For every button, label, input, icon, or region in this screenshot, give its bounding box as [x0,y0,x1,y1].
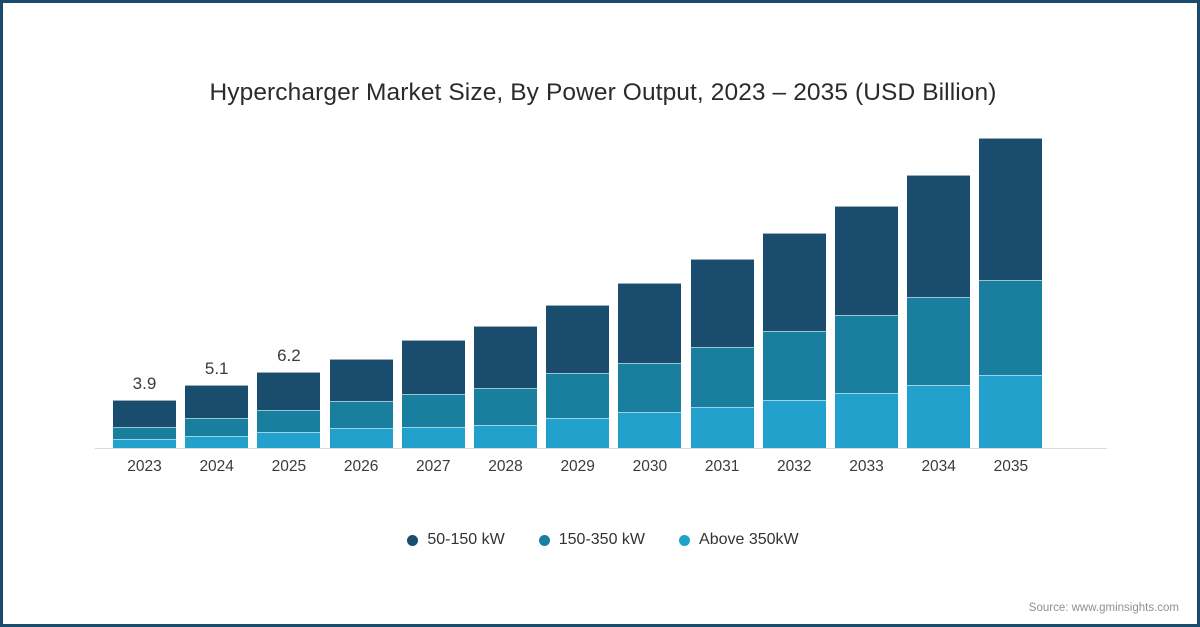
bar-segment[interactable] [113,439,176,448]
bar-segment[interactable] [907,297,970,386]
bar-segment[interactable] [257,410,320,432]
bar-segment[interactable] [835,315,898,392]
bar-segment[interactable] [185,436,248,448]
bar-value-label: 5.1 [175,359,258,379]
x-axis-tick-label: 2033 [825,458,908,476]
x-axis-tick-label: 2023 [103,458,186,476]
bar-segment[interactable] [618,283,681,363]
stacked-bar[interactable] [113,400,176,448]
stacked-bar[interactable] [474,326,537,448]
bar-segment[interactable] [330,428,393,448]
x-axis-tick-label: 2032 [753,458,836,476]
bar-segment[interactable] [691,347,754,407]
legend-item[interactable]: Above 350kW [679,531,799,549]
stacked-bar[interactable] [185,385,248,448]
bar-value-label: 3.9 [103,374,186,394]
bar-value-label: 6.2 [247,346,330,366]
bar-segment[interactable] [474,326,537,388]
legend-item[interactable]: 50-150 kW [407,531,504,549]
bar-segment[interactable] [113,400,176,427]
bar-segment[interactable] [546,373,609,419]
bar-segment[interactable] [835,206,898,315]
bar-group[interactable] [546,305,609,448]
chart-frame: Hypercharger Market Size, By Power Outpu… [0,0,1200,627]
bar-group[interactable] [330,359,393,448]
bar-segment[interactable] [474,388,537,425]
chart-legend: 50-150 kW150-350 kWAbove 350kW [3,531,1200,549]
bar-segment[interactable] [618,412,681,448]
x-axis-tick-label: 2024 [175,458,258,476]
x-axis-tick-label: 2028 [464,458,547,476]
bar-group[interactable]: 3.9 [113,400,176,448]
bar-segment[interactable] [979,138,1042,279]
bar-group[interactable] [763,233,826,448]
bar-segment[interactable] [907,385,970,448]
stacked-bar[interactable] [979,138,1042,448]
bar-segment[interactable] [691,407,754,448]
x-axis-tick-label: 2029 [536,458,619,476]
legend-label: 50-150 kW [427,531,504,549]
stacked-bar[interactable] [618,283,681,448]
bar-segment[interactable] [979,375,1042,448]
circle-dot-icon [679,535,690,546]
source-attribution: Source: www.gminsights.com [1029,602,1179,614]
bar-segment[interactable] [185,385,248,418]
bar-group[interactable] [402,340,465,448]
bar-segment[interactable] [546,305,609,373]
bar-segment[interactable] [402,394,465,427]
stacked-bar[interactable] [546,305,609,448]
bar-segment[interactable] [979,280,1042,376]
x-axis-tick-label: 2027 [392,458,475,476]
bar-group[interactable] [691,259,754,448]
stacked-bar[interactable] [691,259,754,448]
bar-group[interactable]: 6.2 [257,372,320,448]
x-axis-tick-label: 2030 [608,458,691,476]
bar-segment[interactable] [763,331,826,400]
stacked-bar[interactable] [330,359,393,448]
stacked-bar[interactable] [402,340,465,448]
bar-group[interactable] [835,206,898,448]
bar-segment[interactable] [402,340,465,394]
x-axis-tick-label: 2025 [247,458,330,476]
bar-segment[interactable] [257,372,320,410]
legend-label: 150-350 kW [559,531,645,549]
bar-segment[interactable] [835,393,898,448]
circle-dot-icon [407,535,418,546]
stacked-bar[interactable] [835,206,898,448]
bar-group[interactable] [474,326,537,448]
bar-group[interactable] [618,283,681,448]
circle-dot-icon [539,535,550,546]
x-axis-tick-label: 2034 [897,458,980,476]
stacked-bar[interactable] [907,175,970,448]
x-axis-tick-label: 2026 [320,458,403,476]
bar-group[interactable] [979,138,1042,448]
stacked-bar[interactable] [763,233,826,448]
bar-segment[interactable] [330,359,393,401]
bar-group[interactable]: 5.1 [185,385,248,448]
bar-segment[interactable] [763,233,826,331]
bar-segment[interactable] [907,175,970,297]
legend-label: Above 350kW [699,531,799,549]
bar-segment[interactable] [330,401,393,428]
stacked-bar[interactable] [257,372,320,448]
bar-segment[interactable] [402,427,465,448]
bar-segment[interactable] [546,418,609,448]
x-axis-tick-label: 2031 [681,458,764,476]
bar-segment[interactable] [257,432,320,448]
bar-segment[interactable] [185,418,248,435]
bar-segment[interactable] [691,259,754,348]
legend-item[interactable]: 150-350 kW [539,531,645,549]
bar-segment[interactable] [474,425,537,448]
bar-segment[interactable] [763,400,826,448]
x-axis-tick-label: 2035 [969,458,1052,476]
bar-segment[interactable] [618,363,681,412]
bar-group[interactable] [907,175,970,448]
bar-segment[interactable] [113,427,176,439]
